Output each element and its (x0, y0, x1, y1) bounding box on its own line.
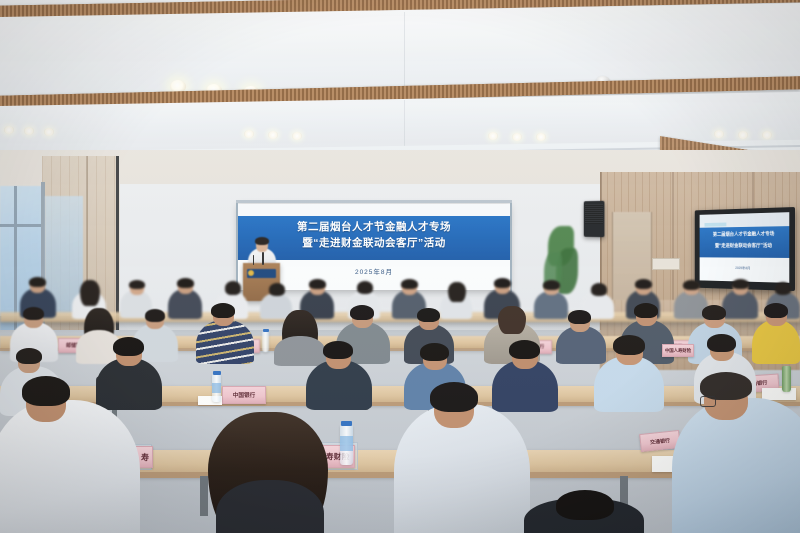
recessed-downlight (738, 131, 748, 139)
attendee-torso (752, 320, 800, 364)
recessed-downlight (512, 133, 522, 141)
podium-emblem-icon (248, 270, 254, 276)
attendee-hair (22, 376, 70, 406)
eyeglasses-icon (700, 396, 716, 407)
screen-title-line2: 暨“走进财金联动会客厅”活动 (238, 235, 510, 250)
bottle-cap (213, 371, 221, 375)
attendee-hair (591, 283, 607, 296)
recessed-downlight (4, 126, 14, 134)
name-card-label: 寿 (141, 452, 149, 463)
attendee-hair (732, 279, 749, 289)
attendee-hair (309, 279, 326, 289)
attendee-hair (702, 305, 726, 320)
name-card-label: 交通银行 (650, 436, 671, 445)
attendee-torso (196, 320, 254, 364)
attendee-hair (568, 310, 591, 324)
table-name-card: 中国银行 (222, 386, 266, 404)
attendee-hair (420, 343, 449, 361)
name-card-label: 中国人寿财险 (665, 348, 691, 354)
attendee-hair (543, 280, 560, 290)
screen-top-band (238, 204, 510, 216)
attendee-hair (775, 282, 791, 295)
attendee-hair (225, 281, 241, 295)
attendee-hair (764, 303, 788, 318)
podium-microphone (262, 252, 264, 265)
attendee-hair (113, 337, 144, 356)
attendee-hair (635, 279, 652, 289)
attendee-torso (216, 480, 324, 533)
recessed-downlight (24, 127, 34, 135)
attendee-hair (683, 280, 700, 290)
attendee-torso (274, 336, 326, 366)
recessed-downlight (244, 130, 254, 138)
wall-monitor: 第二届烟台人才节金融人才专场 暨“走进财金联动会客厅”活动 2025年8月 (695, 207, 795, 291)
screen-frame-right (510, 202, 512, 292)
name-card-label: 中国银行 (233, 391, 255, 399)
attendee-hair (177, 278, 194, 288)
monitor-title-line1: 第二届烟台人才节金融人才专场 (700, 230, 790, 238)
attendee-hair (707, 334, 736, 352)
recessed-downlight (714, 130, 724, 138)
attendee-hair (417, 308, 440, 322)
bottle-label (340, 436, 353, 451)
attendee-hair (556, 490, 614, 520)
attendee-hair (634, 303, 658, 318)
attendee-hair (448, 282, 466, 302)
bottle-cap (341, 421, 352, 426)
attendee-hair (509, 340, 540, 359)
attendee-hair (16, 348, 42, 364)
wall-monitor-screen: 第二届烟台人才节金融人才专场 暨“走进财金联动会客厅”活动 2025年8月 (700, 212, 790, 283)
attendee-hair (80, 280, 100, 306)
recessed-downlight (536, 133, 546, 141)
speaker-grille (585, 204, 603, 224)
attendee-torso (0, 400, 140, 533)
water-bottle (262, 331, 269, 352)
attendee-hair (145, 309, 165, 322)
attendee-hair (350, 305, 374, 320)
screen-frame-top (236, 200, 512, 203)
recessed-downlight (292, 132, 302, 140)
screen-title-line1: 第二届烟台人才节金融人才专场 (238, 219, 510, 234)
recessed-downlight (44, 128, 54, 136)
attendee-hair (211, 303, 235, 318)
attendee-hair (23, 307, 44, 320)
water-bottle (782, 366, 791, 392)
attendee-hair (357, 281, 373, 294)
monitor-accent (705, 223, 727, 227)
attendee-hair (498, 306, 526, 334)
recessed-downlight (762, 131, 772, 139)
recessed-downlight (268, 131, 278, 139)
attendee-hair (494, 278, 511, 288)
conference-room-photo: 第二届烟台人才节金融人才专场 暨“走进财金联动会客厅”活动 2025年8月 第二… (0, 0, 800, 533)
presenter-hair (255, 237, 269, 245)
attendee-hair (323, 341, 353, 359)
bottle-cap (263, 329, 269, 332)
monitor-title-line2: 暨“走进财金联动会客厅”活动 (700, 242, 790, 249)
attendee-hair (613, 335, 645, 355)
bottle-label (212, 383, 221, 393)
desk-leg (200, 476, 208, 516)
window-mullion (0, 224, 44, 227)
attendee-hair (430, 382, 478, 412)
attendee-hair (29, 277, 46, 287)
screen-frame-left (236, 202, 238, 292)
recessed-downlight (488, 132, 498, 140)
attendee-hair (269, 283, 285, 296)
table-name-card: 中国人寿财险 (662, 344, 694, 357)
attendee-hair (129, 280, 145, 289)
attendee-torso (534, 291, 568, 319)
wall-signage (652, 258, 680, 270)
attendee-hair (401, 279, 418, 289)
